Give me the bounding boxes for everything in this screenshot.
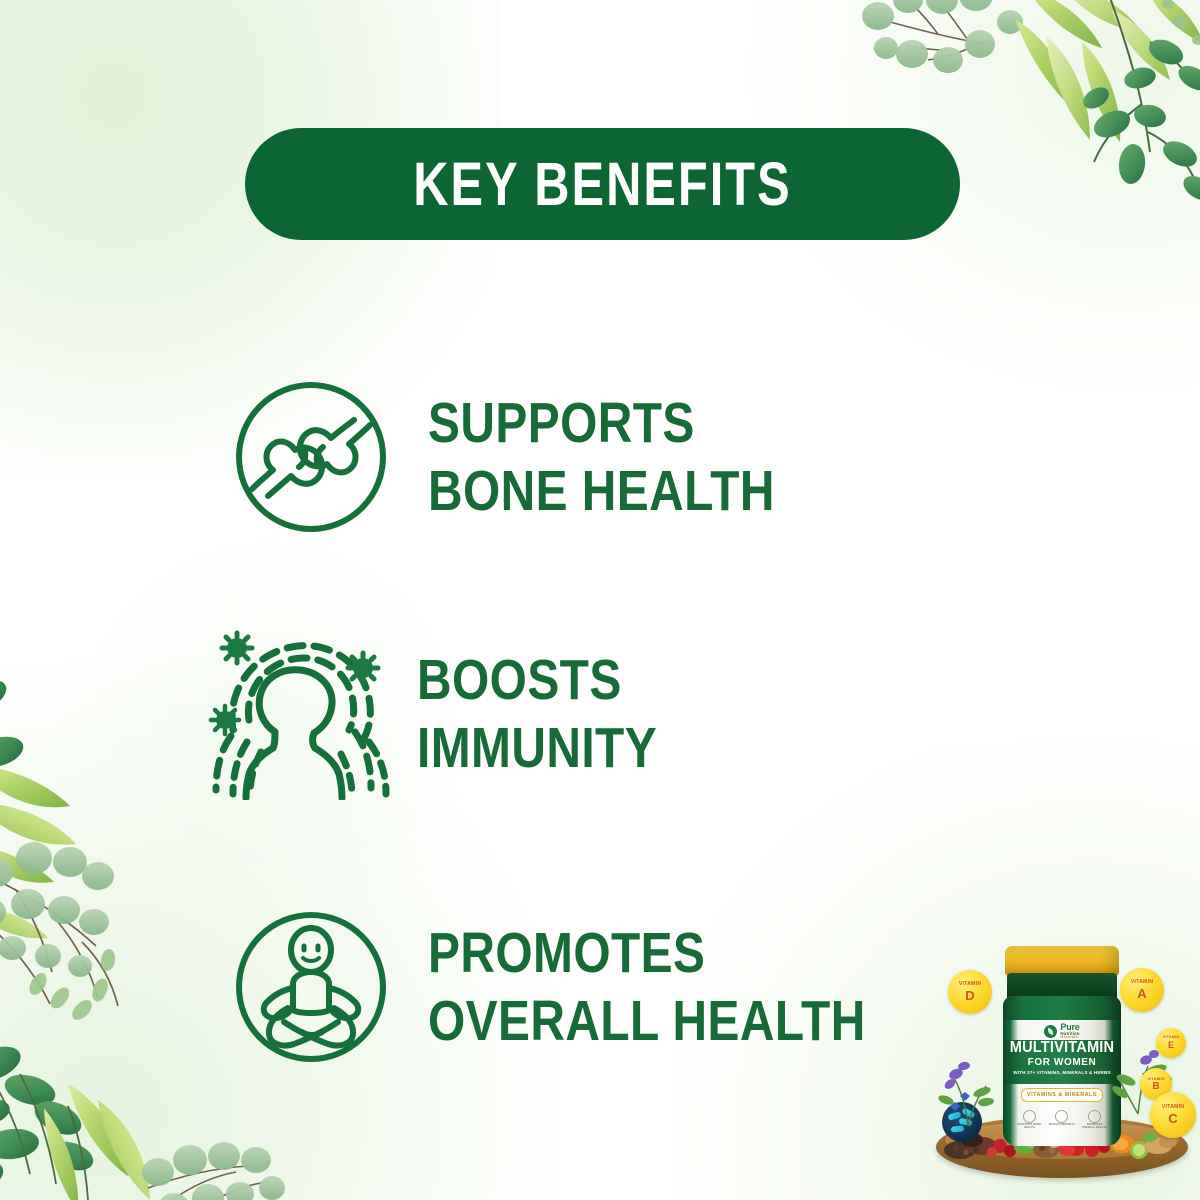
benefit-line-2: IMMUNITY xyxy=(417,714,657,782)
label-text-block: MULTIVITAMIN FOR WOMEN WITH 37+ VITAMINS… xyxy=(1003,1040,1121,1075)
benefit-line-1: PROMOTES xyxy=(428,919,866,987)
bottle-cap xyxy=(1005,946,1119,976)
benefit-label-bone-health: SUPPORTS BONE HEALTH xyxy=(428,389,775,526)
label-icon-overall: PROMOTES OVERALL HEALTH xyxy=(1082,1110,1108,1130)
herb-decoration-left xyxy=(938,1052,996,1126)
product-audience: FOR WOMEN xyxy=(1003,1057,1121,1068)
benefit-item-immunity: BOOSTS IMMUNITY xyxy=(205,628,703,800)
benefit-line-1: BOOSTS xyxy=(417,646,657,714)
vitamins-minerals-badge: VITAMINS & MINERALS xyxy=(1021,1088,1103,1102)
vitamin-bubble-c: VITAMIN C xyxy=(1150,1092,1196,1138)
bone-ring-icon xyxy=(1023,1110,1036,1123)
label-benefit-icons: SUPPORTS BONE HEALTH BOOSTS IMMUNITY PRO… xyxy=(1003,1110,1121,1130)
key-benefits-infographic: KEY BENEFITS SUPPORTS BONE HEALTH xyxy=(0,0,1200,1200)
immunity-ring-icon xyxy=(1055,1110,1068,1123)
vitamin-bubble-d: VITAMIN D xyxy=(948,970,992,1014)
product-image: Pure Nutrition Naturals MULTIVITAMIN FOR… xyxy=(932,900,1192,1200)
supplement-bottle: Pure Nutrition Naturals MULTIVITAMIN FOR… xyxy=(1001,946,1123,1158)
product-claim: WITH 37+ VITAMINS, MINERALS & HERBS xyxy=(1003,1070,1121,1075)
benefit-item-overall-health: PROMOTES OVERALL HEALTH xyxy=(222,898,949,1076)
key-benefits-banner: KEY BENEFITS xyxy=(245,128,960,240)
overall-ring-icon xyxy=(1088,1110,1101,1123)
benefit-line-1: SUPPORTS xyxy=(428,389,775,457)
immunity-shield-person-icon xyxy=(205,628,395,800)
label-icon-bone: SUPPORTS BONE HEALTH xyxy=(1016,1110,1042,1130)
benefit-line-2: OVERALL HEALTH xyxy=(428,987,866,1055)
product-name: MULTIVITAMIN xyxy=(1007,1040,1118,1056)
benefit-item-bone-health: SUPPORTS BONE HEALTH xyxy=(222,368,841,546)
label-band-top xyxy=(1003,996,1121,1020)
page-title: KEY BENEFITS xyxy=(413,149,791,219)
vitamin-bubble-e: VITAMIN E xyxy=(1156,1028,1186,1058)
benefit-label-overall-health: PROMOTES OVERALL HEALTH xyxy=(428,919,866,1056)
meditating-person-icon xyxy=(222,898,400,1076)
benefit-label-immunity: BOOSTS IMMUNITY xyxy=(417,646,657,783)
capsule-icon xyxy=(951,1125,964,1132)
benefit-line-2: BONE HEALTH xyxy=(428,457,775,525)
label-icon-immunity: BOOSTS IMMUNITY xyxy=(1049,1110,1075,1130)
bone-joint-icon xyxy=(222,368,400,546)
vitamin-bubble-a: VITAMIN A xyxy=(1120,968,1164,1012)
leaf-logo-icon xyxy=(1044,1025,1057,1038)
bottle-label: Pure Nutrition Naturals MULTIVITAMIN FOR… xyxy=(1003,996,1121,1146)
